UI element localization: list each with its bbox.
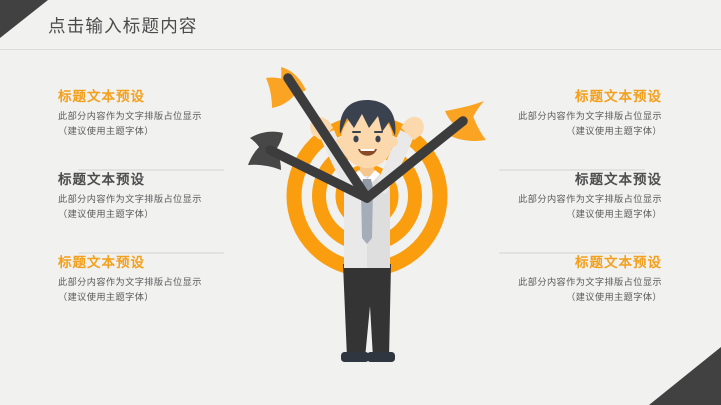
item-body-line-1: 此部分内容作为文字排版占位显示	[462, 275, 662, 290]
corner-decoration-bottom-right	[649, 347, 721, 405]
corner-decoration-top-left	[0, 0, 48, 38]
item-body-line-1: 此部分内容作为文字排版占位显示	[58, 109, 258, 124]
item-body-line-1: 此部分内容作为文字排版占位显示	[462, 192, 662, 207]
left-text-column: 标题文本预设 此部分内容作为文字排版占位显示 （建议使用主题字体） 标题文本预设…	[58, 88, 258, 337]
item-heading: 标题文本预设	[58, 171, 258, 188]
item-heading: 标题文本预设	[462, 88, 662, 105]
right-text-column: 标题文本预设 此部分内容作为文字排版占位显示 （建议使用主题字体） 标题文本预设…	[462, 88, 662, 337]
list-item[interactable]: 标题文本预设 此部分内容作为文字排版占位显示 （建议使用主题字体）	[58, 171, 258, 254]
item-body-line-2: （建议使用主题字体）	[462, 290, 662, 305]
item-heading: 标题文本预设	[462, 254, 662, 271]
central-illustration	[248, 48, 486, 388]
item-body-line-2: （建议使用主题字体）	[58, 207, 258, 222]
list-item[interactable]: 标题文本预设 此部分内容作为文字排版占位显示 （建议使用主题字体）	[462, 171, 662, 254]
slide-canvas: 点击输入标题内容 标题文本预设 此部分内容作为文字排版占位显示 （建议使用主题字…	[0, 0, 721, 405]
page-title: 点击输入标题内容	[48, 13, 198, 38]
item-heading: 标题文本预设	[58, 88, 258, 105]
list-item[interactable]: 标题文本预设 此部分内容作为文字排版占位显示 （建议使用主题字体）	[462, 254, 662, 337]
item-body-line-2: （建议使用主题字体）	[58, 124, 258, 139]
list-item[interactable]: 标题文本预设 此部分内容作为文字排版占位显示 （建议使用主题字体）	[58, 88, 258, 171]
item-body-line-2: （建议使用主题字体）	[462, 207, 662, 222]
item-body-line-1: 此部分内容作为文字排版占位显示	[58, 275, 258, 290]
item-heading: 标题文本预设	[58, 254, 258, 271]
item-body-line-1: 此部分内容作为文字排版占位显示	[462, 109, 662, 124]
list-item[interactable]: 标题文本预设 此部分内容作为文字排版占位显示 （建议使用主题字体）	[58, 254, 258, 337]
item-heading: 标题文本预设	[462, 171, 662, 188]
item-body-line-2: （建议使用主题字体）	[462, 124, 662, 139]
item-body-line-1: 此部分内容作为文字排版占位显示	[58, 192, 258, 207]
list-item[interactable]: 标题文本预设 此部分内容作为文字排版占位显示 （建议使用主题字体）	[462, 88, 662, 171]
item-body-line-2: （建议使用主题字体）	[58, 290, 258, 305]
